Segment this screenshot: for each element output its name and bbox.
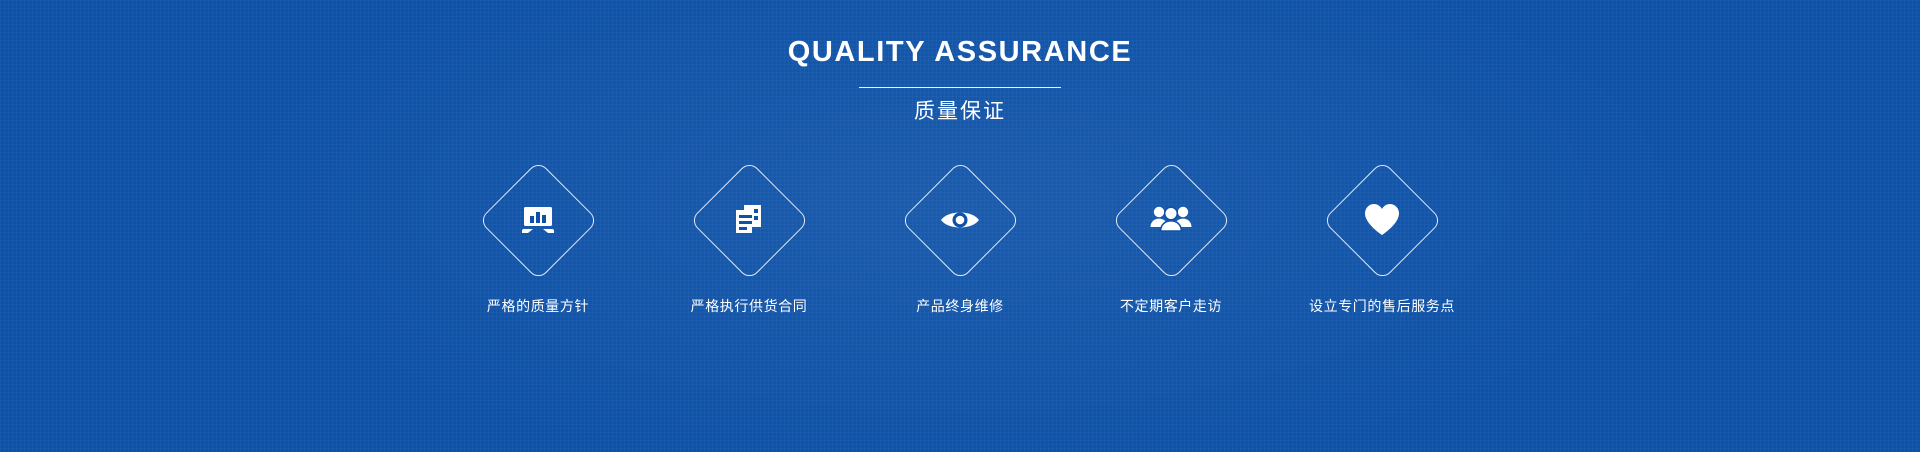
quality-assurance-banner: QUALITY ASSURANCE 质量保证 xyxy=(0,0,1920,452)
page-title-english: QUALITY ASSURANCE xyxy=(788,38,1133,67)
feature-label: 不定期客户走访 xyxy=(1120,298,1222,315)
eye-icon xyxy=(937,197,983,243)
feature-item-lifetime-maintenance[interactable]: 产品终身维修 xyxy=(873,158,1048,315)
feature-item-customer-visits[interactable]: 不定期客户走访 xyxy=(1084,158,1259,315)
diamond-frame-1 xyxy=(476,158,600,282)
page-title-chinese: 质量保证 xyxy=(914,101,1006,122)
people-group-icon xyxy=(1148,197,1194,243)
feature-item-supply-contract[interactable]: 严格执行供货合同 xyxy=(662,158,837,315)
heart-icon xyxy=(1359,197,1405,243)
feature-item-after-sales-service[interactable]: 设立专门的售后服务点 xyxy=(1295,158,1470,315)
diamond-frame-4 xyxy=(1109,158,1233,282)
feature-label: 严格执行供货合同 xyxy=(691,298,808,315)
diamond-frame-2 xyxy=(687,158,811,282)
title-divider xyxy=(859,87,1061,88)
feature-item-quality-policy[interactable]: 严格的质量方针 xyxy=(451,158,626,315)
document-contract-icon xyxy=(726,197,772,243)
banner-heading: QUALITY ASSURANCE 质量保证 xyxy=(788,38,1133,122)
diamond-frame-3 xyxy=(898,158,1022,282)
presentation-chart-icon xyxy=(515,197,561,243)
feature-label: 设立专门的售后服务点 xyxy=(1309,298,1455,315)
feature-label: 产品终身维修 xyxy=(916,298,1004,315)
diamond-frame-5 xyxy=(1320,158,1444,282)
feature-label: 严格的质量方针 xyxy=(487,298,589,315)
feature-list: 严格的质量方针 xyxy=(451,158,1470,315)
